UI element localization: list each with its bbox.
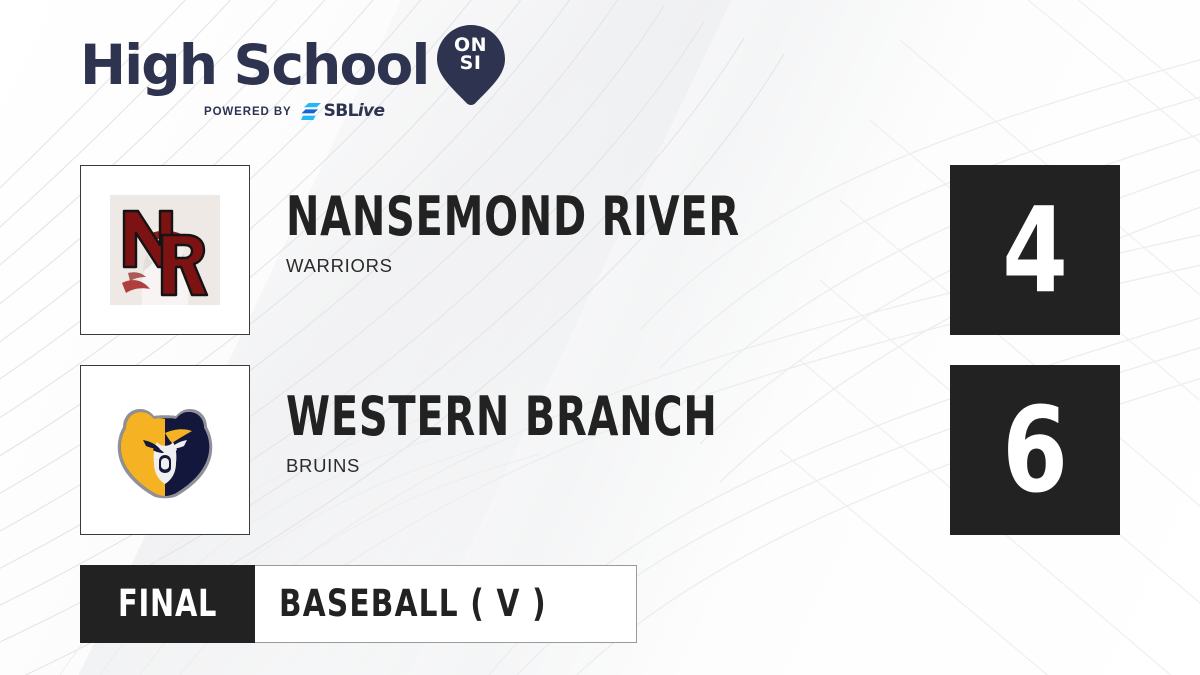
team-mascot: WARRIORS: [286, 255, 926, 277]
brand-wordmark-row: High School ON SI: [80, 34, 510, 96]
status-state-label: FINAL: [118, 585, 217, 623]
score-box-western-branch: 6: [950, 365, 1120, 535]
score-value: 6: [1002, 391, 1068, 509]
team-info-nansemond-river: NANSEMOND RIVER WARRIORS: [286, 189, 926, 277]
team-row: WESTERN BRANCH BRUINS 6: [0, 365, 1200, 535]
pin-line-si: SI: [460, 52, 482, 74]
scoreboard-graphic: High School ON SI POWERED BY: [0, 0, 1200, 675]
game-status-bar: FINAL BASEBALL ( V ): [80, 565, 637, 643]
brand-wordmark-text: High School: [80, 34, 429, 96]
sblive-wordmark: SBLive: [324, 103, 385, 120]
location-pin-icon: ON SI: [437, 25, 505, 105]
western-branch-bruins-logo: [110, 395, 220, 505]
team-logo-card-western-branch[interactable]: [80, 365, 250, 535]
team-info-western-branch: WESTERN BRANCH BRUINS: [286, 389, 926, 477]
team-name: NANSEMOND RIVER: [286, 189, 760, 245]
sblive-bold-part: SBL: [324, 101, 358, 121]
status-badge: FINAL: [80, 565, 255, 643]
sport-badge: BASEBALL ( V ): [255, 565, 637, 643]
powered-by-row: POWERED BY SBLive: [80, 103, 510, 120]
onsi-pin-text: ON SI: [437, 36, 505, 72]
brand-logo[interactable]: High School ON SI POWERED BY: [80, 34, 510, 134]
team-mascot: BRUINS: [286, 455, 926, 477]
sblive-italic-part: ive: [358, 101, 385, 121]
nansemond-river-warriors-logo: [110, 195, 220, 305]
score-box-nansemond-river: 4: [950, 165, 1120, 335]
score-value: 4: [1002, 191, 1068, 309]
team-logo-card-nansemond-river[interactable]: [80, 165, 250, 335]
powered-by-label: POWERED BY: [204, 106, 292, 118]
team-row: NANSEMOND RIVER WARRIORS 4: [0, 165, 1200, 335]
status-sport-label: BASEBALL ( V ): [279, 585, 547, 623]
sblive-s-mark-icon: [301, 103, 322, 120]
team-name: WESTERN BRANCH: [286, 389, 760, 445]
